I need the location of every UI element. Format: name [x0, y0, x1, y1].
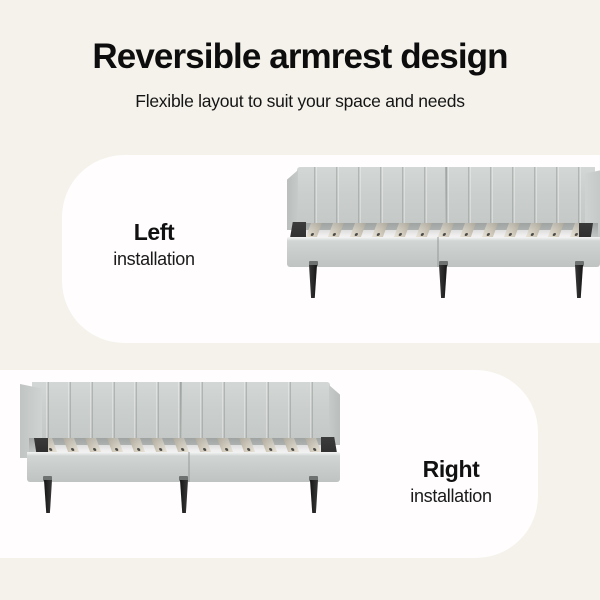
headboard-seam: [445, 167, 447, 230]
bed-illustration-right: [20, 382, 340, 517]
label-right-main: Right: [376, 456, 526, 483]
label-left-main: Left: [84, 219, 224, 246]
bed-illustration-left: [287, 167, 600, 302]
label-left-sub: installation: [84, 249, 224, 270]
side-rail-seam: [188, 452, 190, 482]
headboard-end-return: [287, 170, 298, 230]
bed-leg: [575, 265, 583, 298]
headboard-back-panel: [297, 167, 595, 230]
headboard-back-panel: [32, 382, 330, 445]
headboard-seam: [180, 382, 182, 445]
label-left-installation: Left installation: [84, 219, 224, 270]
label-right-installation: Right installation: [376, 456, 526, 507]
page-title: Reversible armrest design: [0, 38, 600, 76]
bed-leg: [310, 480, 318, 513]
label-right-sub: installation: [376, 486, 526, 507]
bed-leg: [309, 265, 317, 298]
bed-leg: [44, 480, 52, 513]
header: Reversible armrest design Flexible layou…: [0, 0, 600, 112]
page-subtitle: Flexible layout to suit your space and n…: [0, 91, 600, 112]
bed-leg: [180, 480, 188, 513]
headboard-end-return: [329, 385, 340, 445]
bed-leg: [439, 265, 447, 298]
